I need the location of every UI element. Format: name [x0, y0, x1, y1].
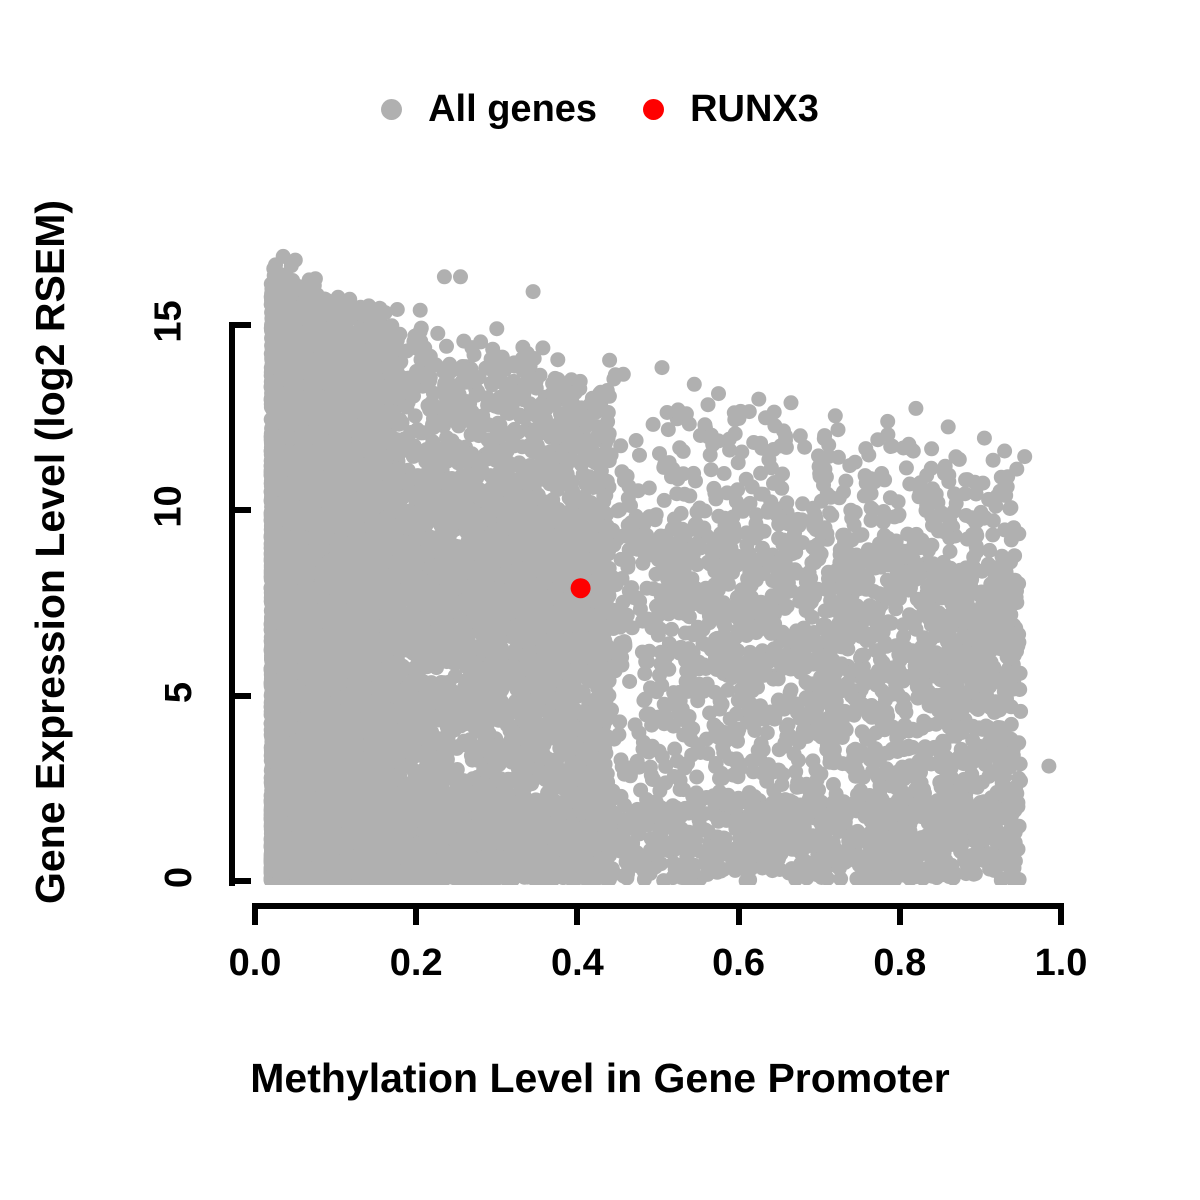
legend-item-runx3: RUNX3 [643, 88, 819, 131]
x-tick-label-2: 0.4 [497, 942, 657, 985]
x-axis-line [255, 903, 1061, 909]
runx3-point [571, 578, 591, 598]
chart-legend: All genes RUNX3 [0, 78, 1200, 140]
y-tick-2 [229, 507, 251, 513]
scatter-plot-figure: All genes RUNX3 0.00.20.40.60.81.0 05101… [0, 0, 1200, 1200]
y-tick-1 [229, 693, 251, 699]
x-tick-label-3: 0.6 [659, 942, 819, 985]
y-axis-title: Gene Expression Level (log2 RSEM) [27, 200, 74, 904]
y-axis-title-wrapper: Gene Expression Level (log2 RSEM) [20, 112, 80, 992]
y-tick-0 [229, 878, 251, 884]
legend-item-all-genes: All genes [381, 88, 597, 131]
legend-label-all-genes: All genes [428, 88, 597, 131]
x-tick-5 [1058, 903, 1064, 925]
x-tick-2 [574, 903, 580, 925]
x-tick-label-0: 0.0 [175, 942, 335, 985]
x-tick-label-1: 0.2 [336, 942, 496, 985]
x-tick-label-4: 0.8 [820, 942, 980, 985]
plot-area [255, 212, 1061, 885]
x-axis-title: Methylation Level in Gene Promoter [0, 1055, 1200, 1102]
y-axis-line [229, 325, 235, 886]
legend-marker-all-genes-icon [381, 99, 402, 120]
x-tick-3 [736, 903, 742, 925]
all-genes-point-cloud [264, 249, 1057, 885]
y-tick-3 [229, 322, 251, 328]
x-tick-label-5: 1.0 [981, 942, 1141, 985]
x-tick-0 [252, 903, 258, 925]
legend-label-runx3: RUNX3 [690, 88, 819, 131]
legend-marker-runx3-icon [643, 99, 664, 120]
x-tick-4 [897, 903, 903, 925]
scatter-points-layer [255, 212, 1061, 885]
x-tick-1 [413, 903, 419, 925]
